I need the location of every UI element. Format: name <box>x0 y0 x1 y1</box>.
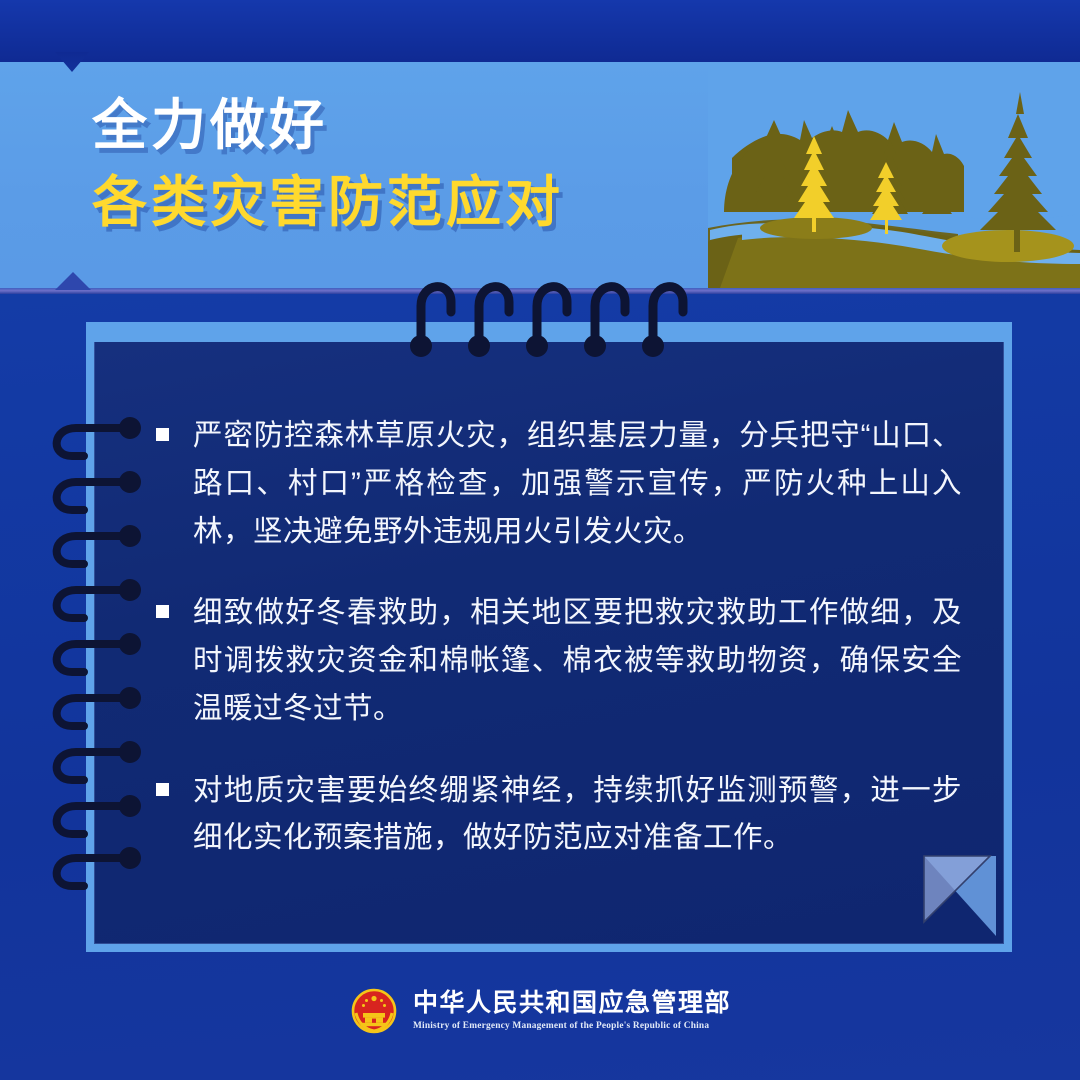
banner-divider <box>0 288 1080 294</box>
list-item: 对地质灾害要始终绷紧神经，持续抓好监测预警，进一步细化实化预案措施，做好防范应对… <box>156 767 962 863</box>
china-national-emblem-icon <box>349 986 399 1036</box>
bullet-list: 严密防控森林草原火灾，组织基层力量，分兵把守“山口、路口、村口”严格检查，加强警… <box>156 412 962 862</box>
card-top-strip <box>94 326 1004 342</box>
forest-illustration <box>708 62 1080 288</box>
square-bullet-icon <box>156 783 169 796</box>
top-navy-bar <box>0 0 1080 62</box>
list-item: 细致做好冬春救助，相关地区要把救灾救助工作做细，及时调拨救灾资金和棉帐篷、棉衣被… <box>156 589 962 732</box>
list-item-text: 对地质灾害要始终绷紧神经，持续抓好监测预警，进一步细化实化预案措施，做好防范应对… <box>193 767 962 863</box>
content-card: 严密防控森林草原火灾，组织基层力量，分兵把守“山口、路口、村口”严格检查，加强警… <box>86 322 1012 952</box>
page-title: 全力做好 各类灾害防范应对 <box>92 92 564 236</box>
footer-organization-cn: 中华人民共和国应急管理部 <box>413 989 731 1017</box>
footer-organization-en: Ministry of Emergency Management of the … <box>413 1020 731 1032</box>
page-fold-corner-icon <box>910 850 1002 942</box>
list-item: 严密防控森林草原火灾，组织基层力量，分兵把守“山口、路口、村口”严格检查，加强警… <box>156 412 962 555</box>
poster-root: 全力做好 各类灾害防范应对 严密防控森林草原火灾，组织基层力量，分兵把守“山口、… <box>0 0 1080 1080</box>
footer-text-block: 中华人民共和国应急管理部 Ministry of Emergency Manag… <box>413 989 731 1032</box>
title-line-secondary: 各类灾害防范应对 <box>92 169 564 236</box>
square-bullet-icon <box>156 428 169 441</box>
list-item-text: 细致做好冬春救助，相关地区要把救灾救助工作做细，及时调拨救灾资金和棉帐篷、棉衣被… <box>193 589 962 732</box>
square-bullet-icon <box>156 605 169 618</box>
footer-branding: 中华人民共和国应急管理部 Ministry of Emergency Manag… <box>0 986 1080 1036</box>
list-item-text: 严密防控森林草原火灾，组织基层力量，分兵把守“山口、路口、村口”严格检查，加强警… <box>193 412 962 555</box>
title-line-primary: 全力做好 <box>92 92 564 159</box>
